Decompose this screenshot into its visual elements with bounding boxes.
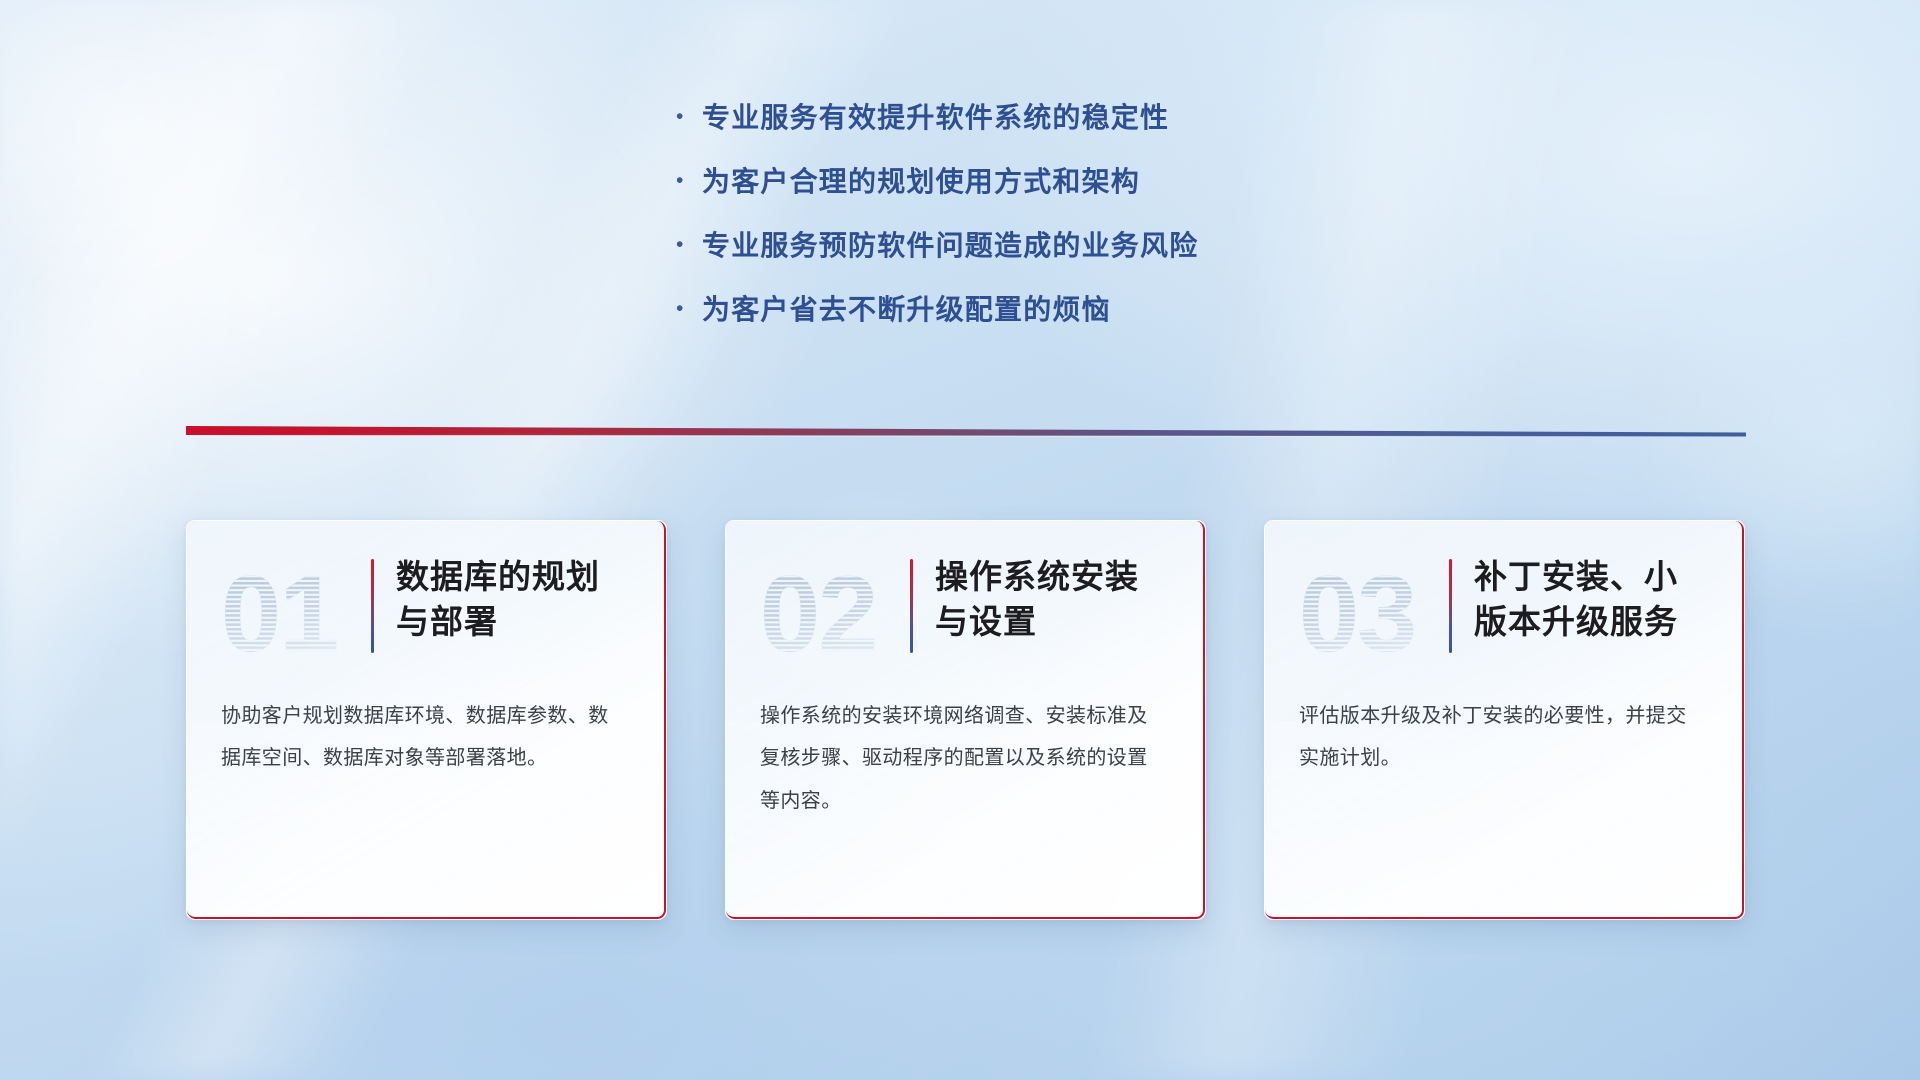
list-item: • 为客户合理的规划使用方式和架构 <box>676 160 1436 224</box>
service-card-03[interactable]: 03 03 补丁安装、小版本升级服务 评估版本升级及补丁安装的必要性，并提交实施… <box>1264 520 1745 920</box>
svg-text:01: 01 <box>221 559 337 671</box>
bullet-text: 为客户合理的规划使用方式和架构 <box>702 160 1140 200</box>
number-03-striped-icon: 03 03 <box>1299 559 1447 671</box>
bullet-text: 为客户省去不断升级配置的烦恼 <box>702 288 1111 328</box>
card-body-text: 操作系统的安装环境网络调查、安装标准及复核步骤、驱动程序的配置以及系统的设置等内… <box>726 689 1205 822</box>
service-cards: 01 01 数据库的规划与部署 协助客户规划数据库环境、数据库参数、数据库空间、… <box>186 520 1746 940</box>
card-number-watermark: 02 02 <box>760 559 908 669</box>
bullet-marker-icon: • <box>676 106 702 127</box>
card-title: 补丁安装、小版本升级服务 <box>1474 555 1678 645</box>
card-title: 数据库的规划与部署 <box>396 555 600 645</box>
list-item: • 专业服务有效提升软件系统的稳定性 <box>676 96 1436 160</box>
divider-gradient-bar <box>186 424 1746 444</box>
bullet-marker-icon: • <box>676 234 702 255</box>
bullet-marker-icon: • <box>676 170 702 191</box>
card-body-text: 评估版本升级及补丁安装的必要性，并提交实施计划。 <box>1265 689 1744 780</box>
slide-canvas: • 专业服务有效提升软件系统的稳定性 • 为客户合理的规划使用方式和架构 • 专… <box>0 0 1920 1080</box>
card-header: 02 02 操作系统安装与设置 <box>726 521 1205 689</box>
svg-text:02: 02 <box>760 559 876 671</box>
card-body-text: 协助客户规划数据库环境、数据库参数、数据库空间、数据库对象等部署落地。 <box>187 689 666 780</box>
card-accent-bar <box>910 559 913 653</box>
card-header: 01 01 数据库的规划与部署 <box>187 521 666 689</box>
svg-text:03: 03 <box>1299 559 1415 671</box>
benefits-bullet-list: • 专业服务有效提升软件系统的稳定性 • 为客户合理的规划使用方式和架构 • 专… <box>676 96 1436 352</box>
section-divider <box>186 424 1746 444</box>
card-accent-bar <box>1449 559 1452 653</box>
card-number-watermark: 03 03 <box>1299 559 1447 669</box>
card-accent-bar <box>371 559 374 653</box>
bullet-marker-icon: • <box>676 298 702 319</box>
number-02-striped-icon: 02 02 <box>760 559 908 671</box>
service-card-02[interactable]: 02 02 操作系统安装与设置 操作系统的安装环境网络调查、安装标准及复核步骤、… <box>725 520 1206 920</box>
bullet-text: 专业服务有效提升软件系统的稳定性 <box>702 96 1169 136</box>
list-item: • 专业服务预防软件问题造成的业务风险 <box>676 224 1436 288</box>
card-title: 操作系统安装与设置 <box>935 555 1139 645</box>
list-item: • 为客户省去不断升级配置的烦恼 <box>676 288 1436 352</box>
bullet-text: 专业服务预防软件问题造成的业务风险 <box>702 224 1198 264</box>
card-number-watermark: 01 01 <box>221 559 369 669</box>
service-card-01[interactable]: 01 01 数据库的规划与部署 协助客户规划数据库环境、数据库参数、数据库空间、… <box>186 520 667 920</box>
number-01-striped-icon: 01 01 <box>221 559 369 671</box>
card-header: 03 03 补丁安装、小版本升级服务 <box>1265 521 1744 689</box>
